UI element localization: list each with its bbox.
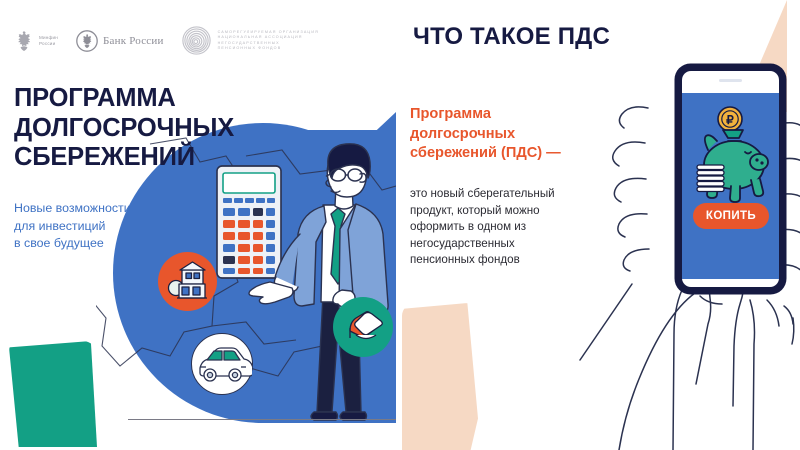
bank-of-russia-logo: Банк России — [76, 30, 164, 52]
logo-row: Минфин России Банк России — [14, 26, 319, 55]
smartphone-frame: ₽ — [673, 62, 788, 296]
house-badge — [158, 252, 217, 311]
car-badge — [191, 333, 253, 395]
left-title-line-1: ПРОГРАММА — [14, 84, 344, 114]
slide-root: Минфин России Банк России — [0, 0, 800, 450]
businessman-with-calculator-illustration — [110, 130, 396, 430]
horizontal-divider-line — [128, 419, 396, 420]
green-accent-shape — [9, 341, 97, 447]
double-headed-eagle-icon — [76, 30, 98, 52]
left-title-line-3: СБЕРЕЖЕНИЙ — [14, 143, 344, 173]
napf-logo: САМОРЕГУЛИРУЕМАЯ ОРГАНИЗАЦИЯ НАЦИОНАЛЬНА… — [182, 26, 319, 55]
ruble-coin-icon: ₽ — [718, 107, 742, 131]
left-title-line-2: ДОЛГОСРОЧНЫХ — [14, 114, 344, 144]
left-panel-subtitle: Новые возможности для инвестиций в свое … — [14, 200, 204, 253]
minfin-logo: Минфин России — [14, 30, 58, 52]
left-panel-title: ПРОГРАММА ДОЛГОСРОЧНЫХ СБЕРЕЖЕНИЙ — [14, 84, 344, 173]
right-panel: ₽ — [396, 0, 800, 450]
education-badge — [333, 297, 393, 357]
car-icon — [192, 334, 252, 394]
concentric-circles-icon — [182, 26, 211, 55]
minfin-logo-words: Минфин России — [39, 35, 58, 46]
bank-of-russia-label: Банк России — [103, 35, 164, 47]
house-icon — [158, 252, 217, 311]
left-subtitle-line-2: для инвестиций — [14, 218, 204, 236]
left-subtitle-line-1: Новые возможности — [14, 200, 204, 218]
napf-logo-line-4: ПЕНСИОННЫХ ФОНДОВ — [218, 46, 319, 51]
save-button[interactable] — [693, 203, 769, 229]
smartphone-mockup[interactable]: ₽ — [673, 62, 788, 301]
minfin-logo-line-2: России — [39, 41, 58, 46]
double-headed-eagle-icon — [14, 30, 34, 52]
svg-text:₽: ₽ — [726, 113, 734, 127]
left-subtitle-line-3: в свое будущее — [14, 235, 204, 253]
left-panel: Минфин России Банк России — [0, 0, 396, 450]
graduation-cap-icon — [333, 297, 393, 357]
coin-stack-icon — [697, 165, 724, 192]
napf-logo-words: САМОРЕГУЛИРУЕМАЯ ОРГАНИЗАЦИЯ НАЦИОНАЛЬНА… — [218, 30, 319, 51]
calculator-icon — [217, 166, 281, 278]
